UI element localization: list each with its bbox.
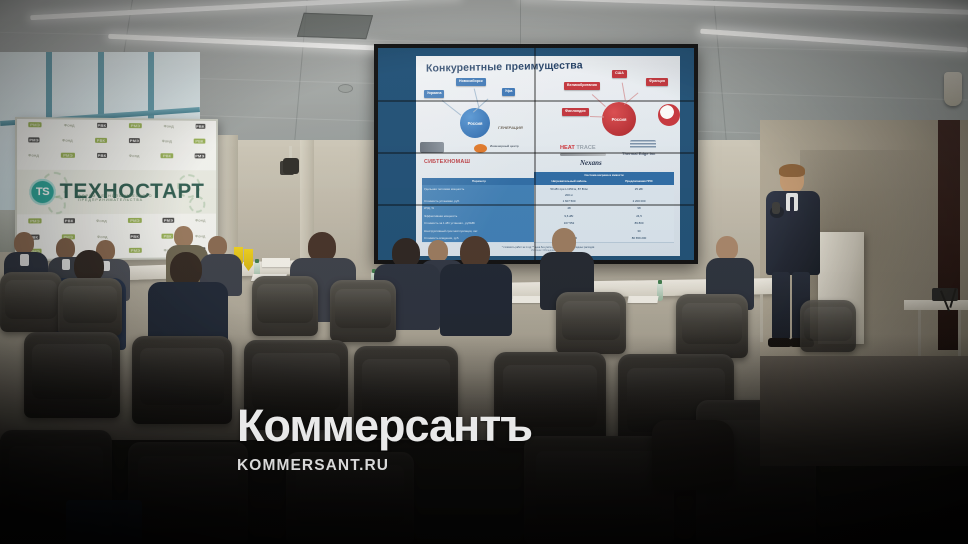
sponsor-logo: Фонд — [164, 123, 174, 128]
sponsor-logo: РВК — [193, 139, 205, 144]
logo-thermon — [658, 104, 680, 126]
table-cell: 80 659 200 — [604, 234, 674, 242]
sponsor-logo: РМЭ — [28, 218, 42, 223]
sponsor-logo: РВК — [97, 123, 108, 128]
diagram-node-ufa: Уфа — [502, 88, 515, 96]
sponsor-logo: РВК — [95, 138, 107, 143]
wall-speaker-icon — [944, 72, 962, 106]
diagram-center-russia-left: Россия — [460, 108, 490, 138]
diagram-node-finland: Финляндия — [562, 108, 589, 116]
ceiling-light-strip — [520, 0, 968, 15]
office-chair[interactable] — [244, 340, 348, 430]
technostart-logo-badge: TS — [29, 179, 55, 205]
microphone-icon — [772, 202, 780, 214]
sponsor-logo: РВК — [97, 153, 108, 158]
office-chair[interactable] — [354, 346, 458, 438]
sponsor-logo: РВК — [162, 234, 174, 239]
diagram-node-usa: США — [612, 70, 627, 78]
carpet-floor — [760, 356, 968, 466]
office-chair[interactable] — [494, 352, 606, 448]
office-chair[interactable] — [252, 276, 318, 336]
sponsor-logo: РВК — [161, 153, 173, 158]
sponsor-logo: Фонд — [64, 122, 75, 127]
sponsor-logo: Фонд — [97, 234, 108, 239]
door-recess — [938, 120, 960, 350]
logo-heat-trace: HEAT TRACE — [560, 146, 596, 152]
presentation-slide: Конкурентные преимущества Украина Новоси… — [416, 56, 680, 256]
paper-sheet — [627, 296, 658, 303]
ceiling-vent — [297, 13, 373, 39]
sponsor-logo: Фонд — [195, 233, 205, 238]
diagram-node-ukraine: Украина — [424, 90, 444, 98]
sponsor-logo: РВК — [64, 218, 75, 223]
sponsor-logo: РМЭ — [129, 123, 142, 128]
video-wall-display[interactable]: Конкурентные преимущества Украина Новоси… — [374, 44, 698, 264]
office-chair[interactable] — [128, 442, 248, 544]
table-leg — [760, 294, 763, 342]
presenter-legs — [772, 272, 790, 340]
diagram-center-russia-right: Россия — [602, 102, 636, 136]
slide-comparison-table: Система нагрева в ёмкости Параметр Нагре… — [422, 172, 674, 242]
diagram-node-france: Франция — [646, 78, 668, 86]
security-camera-icon — [283, 158, 299, 174]
sponsor-logo: РМЭ — [128, 218, 141, 223]
office-chair[interactable] — [556, 292, 626, 354]
logo-thermal-edge-mark — [630, 140, 656, 149]
sponsor-logo: РМЭ — [61, 153, 75, 158]
table-row: Стоимость владения, руб. 123 675 436 80 … — [422, 235, 674, 242]
sponsor-logo: Фонд — [129, 153, 139, 158]
logo-generatsiya: ГЕНЕРАЦИЯ — [498, 126, 523, 130]
ceiling-light-strip — [30, 0, 460, 20]
sponsor-logo: РМЭ — [28, 122, 42, 127]
sponsor-logo: РВК — [195, 124, 205, 129]
name-card — [262, 258, 290, 267]
blue-object — [66, 500, 142, 544]
office-chair[interactable] — [0, 272, 62, 332]
backpack — [652, 420, 734, 490]
slide-title: Конкурентные преимущества — [426, 59, 583, 74]
sponsor-logo: Фонд — [195, 218, 205, 223]
photo-canvas: РМЭ Фонд РВК РМЭ Фонд РВК РМЭ Фонд РВК Р… — [0, 0, 968, 544]
office-chair[interactable] — [24, 332, 120, 418]
office-chair[interactable] — [58, 278, 122, 336]
sponsor-logo: РМЭ — [129, 248, 142, 253]
ceiling-sprinkler — [338, 84, 353, 93]
office-chair[interactable] — [800, 300, 856, 352]
sponsor-logo: РМЭ — [129, 138, 140, 143]
sponsor-logo: РВК — [129, 234, 139, 239]
sponsor-logo: Фонд — [162, 138, 172, 143]
technostart-tagline: ФОРУМ ТЕХНОЛОГИЧЕСКОГО ПРЕДПРИНИМАТЕЛЬСТ… — [78, 194, 177, 202]
sponsor-logo: РМЭ — [163, 218, 174, 223]
sponsor-logo: Фонд — [28, 153, 39, 158]
office-chair[interactable] — [286, 452, 414, 544]
equipment-table — [904, 300, 968, 310]
presenter-shoe — [768, 338, 792, 347]
logo-ssk-text: Инженерный центр — [490, 145, 519, 148]
office-chair[interactable] — [132, 336, 232, 424]
presenter-tie — [790, 197, 794, 217]
diagram-node-uk: Великобритания — [564, 82, 600, 90]
sponsor-logo: Фонд — [62, 138, 73, 143]
office-chair[interactable] — [330, 280, 396, 342]
diagram-node-novosibirsk: Новосибирск — [456, 78, 486, 86]
office-chair[interactable] — [676, 294, 748, 358]
logo-sibtehnomash: СИБТЕХНОМАШ — [424, 160, 470, 165]
sponsor-logo: РМЭ — [28, 137, 40, 142]
logo-nexans: Nexans — [580, 160, 602, 167]
sponsor-logo: Фонд — [96, 218, 107, 223]
sponsor-logo: РМЭ — [194, 153, 205, 158]
video-wall-panels: Конкурентные преимущества Украина Новоси… — [378, 48, 694, 260]
